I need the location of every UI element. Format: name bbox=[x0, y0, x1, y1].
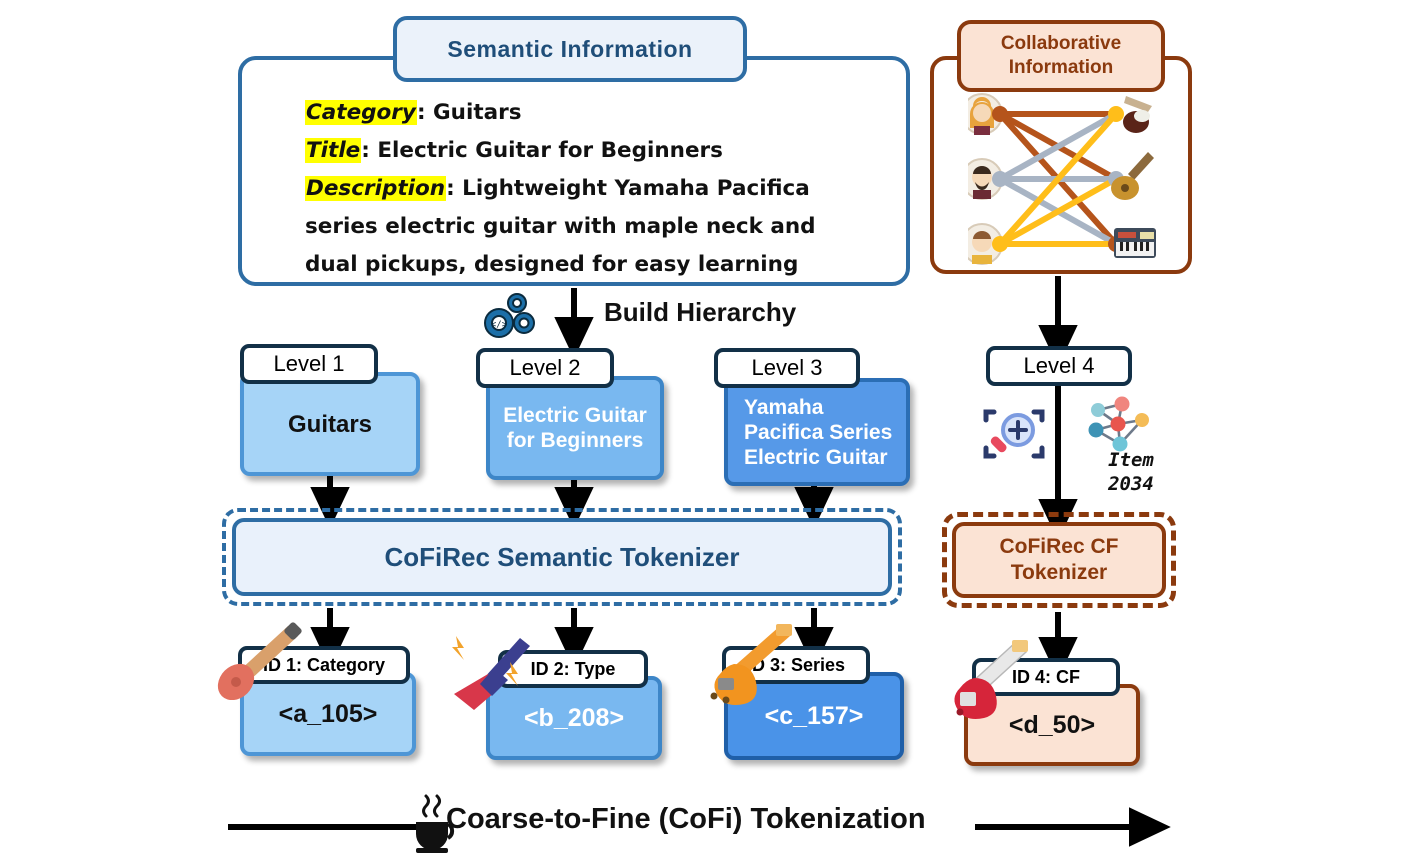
flying-v-guitar-icon bbox=[448, 634, 544, 720]
level-2-text: Electric Guitar for Beginners bbox=[503, 403, 647, 453]
cofirec-cf-tokenizer[interactable]: CoFiRec CF Tokenizer bbox=[952, 522, 1166, 598]
semantic-information-body: Category: Guitars Title: Electric Guitar… bbox=[305, 94, 905, 284]
level-4-tab[interactable]: Level 4 bbox=[986, 346, 1132, 386]
level-3-card[interactable]: Yamaha Pacifica Series Electric Guitar bbox=[724, 378, 910, 486]
description-key-highlight: Description bbox=[305, 176, 446, 201]
level-3-text: Yamaha Pacifica Series Electric Guitar bbox=[744, 395, 892, 470]
level-1-card[interactable]: Guitars bbox=[240, 372, 420, 476]
orange-electric-guitar-icon bbox=[700, 622, 796, 708]
collaborative-information-title: Collaborative Information bbox=[957, 20, 1165, 92]
collab-title-line1: Collaborative bbox=[1001, 32, 1121, 56]
keyboard-thumb bbox=[1114, 228, 1156, 258]
description-line-3: dual pickups, designed for easy learning bbox=[305, 246, 905, 284]
item-id-label: Item 2034 bbox=[1086, 448, 1176, 496]
collab-title-line2: Information bbox=[1009, 56, 1114, 80]
description-value-line1: : Lightweight Yamaha Pacifica bbox=[446, 176, 810, 201]
build-hierarchy-label: Build Hierarchy bbox=[604, 297, 796, 328]
item-label-line2: 2034 bbox=[1086, 472, 1176, 496]
red-electric-guitar-icon bbox=[944, 638, 1036, 726]
magnifier-plus-icon bbox=[978, 398, 1056, 468]
item-label-line1: Item bbox=[1086, 448, 1176, 472]
item-node-1 bbox=[1108, 106, 1124, 122]
category-key-highlight: Category bbox=[305, 100, 417, 125]
user-node-2 bbox=[992, 171, 1008, 187]
token-1-value: <a_105> bbox=[279, 700, 378, 729]
user-node-3 bbox=[992, 236, 1008, 252]
level-1-text: Guitars bbox=[288, 412, 372, 437]
cofirec-semantic-tokenizer[interactable]: CoFiRec Semantic Tokenizer bbox=[232, 518, 892, 596]
cf-tokenizer-label: CoFiRec CF Tokenizer bbox=[999, 534, 1118, 586]
gears-code-icon: </> bbox=[478, 290, 542, 346]
category-value: : Guitars bbox=[417, 100, 522, 125]
user-item-bipartite-graph bbox=[968, 92, 1158, 267]
user-node-1 bbox=[992, 106, 1008, 122]
electric-guitar-thumb bbox=[1123, 96, 1152, 133]
description-line-2: series electric guitar with maple neck a… bbox=[305, 208, 905, 246]
footer-label: Coarse-to-Fine (CoFi) Tokenization bbox=[446, 803, 926, 836]
svg-text:</>: </> bbox=[491, 320, 508, 330]
acoustic-guitar-pink-icon bbox=[214, 620, 304, 700]
semantic-field-description: Description: Lightweight Yamaha Pacifica bbox=[305, 170, 905, 208]
level-3-tab[interactable]: Level 3 bbox=[714, 348, 860, 388]
semantic-field-title: Title: Electric Guitar for Beginners bbox=[305, 132, 905, 170]
semantic-information-title: Semantic Information bbox=[393, 16, 747, 82]
level-1-tab[interactable]: Level 1 bbox=[240, 344, 378, 384]
semantic-field-category: Category: Guitars bbox=[305, 94, 905, 132]
title-value: : Electric Guitar for Beginners bbox=[361, 138, 723, 163]
title-key-highlight: Title bbox=[305, 138, 361, 163]
level-2-card[interactable]: Electric Guitar for Beginners bbox=[486, 376, 664, 480]
level-2-tab[interactable]: Level 2 bbox=[476, 348, 614, 388]
